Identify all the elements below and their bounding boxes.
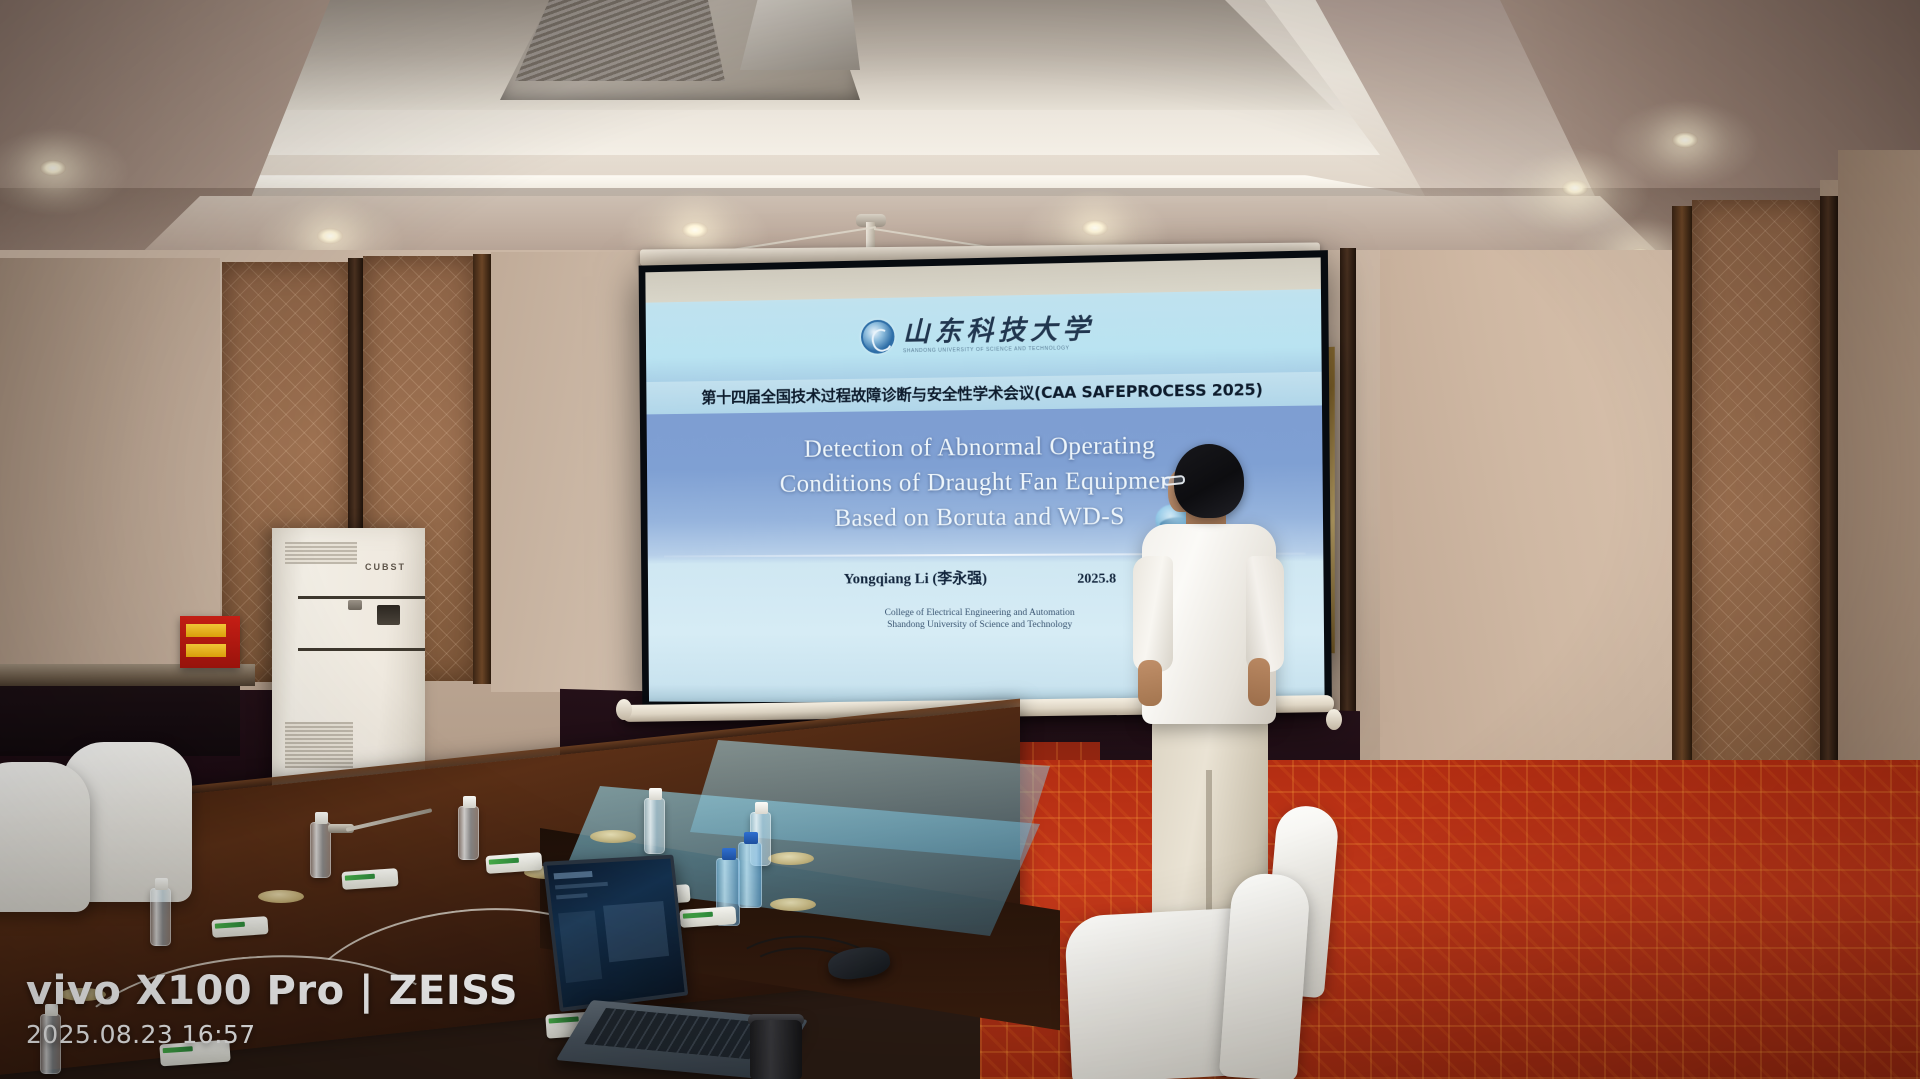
slide-date: 2025.8 [1077, 572, 1116, 588]
presenter-sleeve-right [1246, 556, 1284, 672]
university-name-cn: 山东科技大学 [903, 315, 1095, 345]
slide-title-line-2: Conditions of Draught Fan Equipment [780, 465, 1182, 499]
notepad-pen-icon [215, 922, 245, 929]
ac-display-panel[interactable] [377, 605, 400, 625]
laptop-screen[interactable] [543, 855, 688, 1012]
ceiling-ac-grille [515, 0, 725, 81]
slide-author-name: Yongqiang Li (李永强) [844, 567, 988, 588]
ceiling-downlight [1672, 132, 1698, 148]
presenter-sleeve-left [1133, 556, 1173, 672]
ac-top-grille [285, 542, 357, 564]
thermos-bottle [750, 1020, 802, 1079]
ac-panel-seam [298, 648, 425, 651]
laptop-ui-panel [558, 910, 602, 983]
ac-panel-seam [298, 596, 425, 599]
screen-bar-cap-left [616, 699, 632, 720]
presenter-forearm-right [1248, 658, 1270, 706]
camera-watermark-brand: vivo X100 Pro | ZEISS [26, 968, 518, 1014]
water-bottle[interactable] [150, 888, 171, 946]
university-emblem-icon [860, 320, 894, 354]
water-bottle[interactable] [644, 798, 665, 854]
ceiling-ac-bar [740, 0, 860, 70]
university-name-en: SHANDONG UNIVERSITY OF SCIENCE AND TECHN… [903, 346, 1095, 354]
ceiling-downlight [40, 160, 66, 176]
ac-brand-label: CUBST [365, 562, 406, 572]
coaster [770, 898, 816, 911]
red-box-label [186, 644, 226, 657]
ceiling-downlight [1082, 220, 1108, 236]
notepad-pen-icon [683, 912, 713, 919]
laptop-ui-bar [554, 871, 593, 879]
ac-door-handle[interactable] [348, 600, 362, 610]
slide-conference-banner: 第十四届全国技术过程故障诊断与安全性学术会议(CAA SAFEPROCESS 2… [646, 371, 1322, 414]
slide-university-logo: 山东科技大学 SHANDONG UNIVERSITY OF SCIENCE AN… [646, 293, 1322, 375]
slide-title-line-3: Based on Boruta and WD-S [834, 501, 1125, 533]
wall-trim [473, 254, 491, 684]
notepad-pen-icon [489, 858, 519, 865]
chair[interactable] [0, 762, 90, 912]
red-box-label [186, 624, 226, 637]
water-bottle[interactable] [458, 806, 479, 860]
notepad-pen-icon [345, 874, 375, 881]
chair[interactable] [1219, 872, 1311, 1079]
coaster [768, 852, 814, 865]
ceiling-downlight [317, 228, 343, 244]
ceiling-downlight [682, 222, 708, 238]
screen-bar-cap-right [1326, 709, 1342, 730]
laptop-ui-panel [603, 901, 669, 962]
camera-watermark-timestamp: 2025.08.23 16:57 [26, 1020, 256, 1049]
presenter-forearm-left [1138, 660, 1162, 706]
wall-section-left-of-screen [491, 252, 651, 692]
laptop-ui-bar [556, 893, 588, 899]
laptop-ui-bar [555, 882, 608, 890]
ceiling-downlight [1562, 180, 1588, 196]
coaster [590, 830, 636, 843]
ac-bottom-grille [285, 722, 353, 768]
university-logo-text: 山东科技大学 SHANDONG UNIVERSITY OF SCIENCE AN… [903, 315, 1095, 353]
photo-scene: 山东科技大学 SHANDONG UNIVERSITY OF SCIENCE AN… [0, 0, 1920, 1079]
slide-title-line-1: Detection of Abnormal Operating [804, 430, 1156, 464]
water-bottle-blue[interactable] [738, 842, 762, 908]
conference-banner-text: 第十四届全国技术过程故障诊断与安全性学术会议(CAA SAFEPROCESS 2… [701, 378, 1262, 408]
coaster [258, 890, 304, 903]
